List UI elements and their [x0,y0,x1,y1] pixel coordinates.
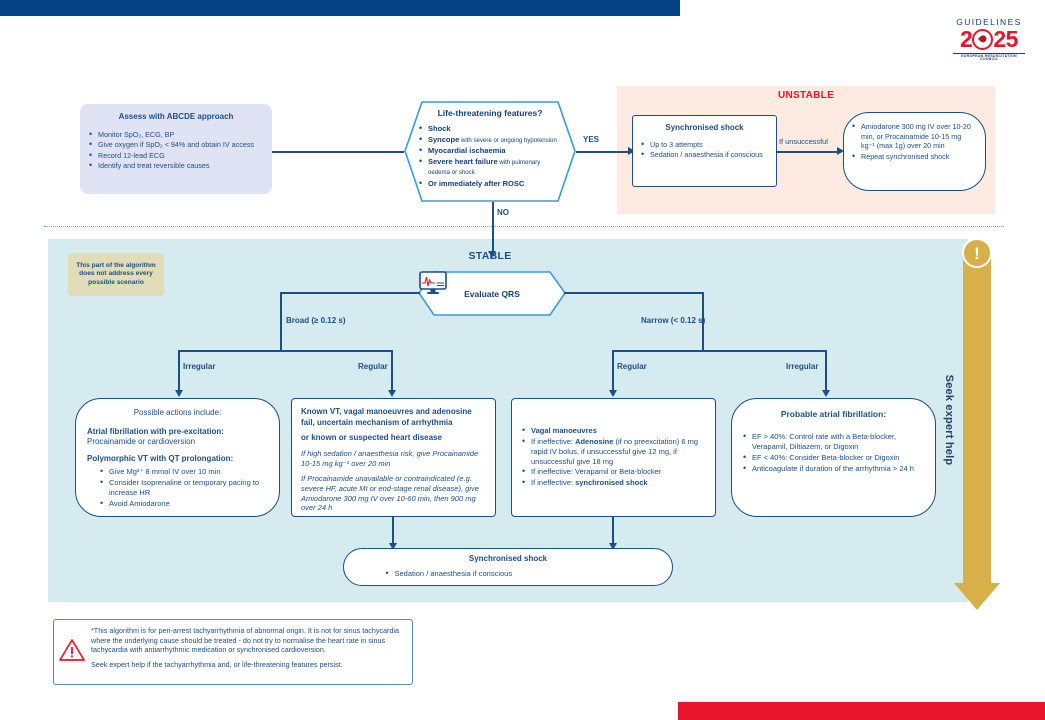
list-item: Up to 3 attempts [641,140,768,150]
list-item: EF < 40%: Consider Beta-blocker or Digox… [743,453,924,463]
connector-broad-regular [391,350,393,392]
erc-heart-icon [972,29,993,50]
amiodarone-line: If Procainamide unavailable or contraind… [301,474,486,514]
connector-narrow-irregular [825,350,827,392]
list-item: Sedation / anaesthesia if conscious [641,150,768,160]
edge-label-if-unsuccessful: If unsuccessful [779,137,828,146]
edge-label-narrow-regular: Regular [617,362,647,371]
list-item: Syncope with severe or ongoing hypotensi… [419,135,561,145]
item-normal: If ineffective: [531,437,575,446]
footnote-text: *This algorithm is for peri-arrest tachy… [91,626,405,678]
polymorphic-vt-list: Give Mg²⁺ 8 mmol IV over 10 min Consider… [87,467,268,509]
footnote-para-2: Seek expert help if the tachyarrhythmia … [91,660,405,670]
known-vt-line: Known VT, vagal manoeuvres and adenosine… [301,407,486,428]
life-threat-list: Shock Syncope with severe or ongoing hyp… [419,124,561,189]
unstable-banner: UNSTABLE [617,90,995,101]
arrow-narrow-regular [609,390,617,397]
item-bold: Severe heart failure [428,157,498,166]
connector-qrs-left [280,292,420,294]
connector-no [492,202,494,252]
stable-banner: STABLE [404,250,576,262]
footnote-para-1: *This algorithm is for peri-arrest tachy… [91,626,405,655]
footnote-box: *This algorithm is for peri-arrest tachy… [53,619,413,685]
evaluate-qrs-label: Evaluate QRS [464,289,520,299]
af-preexcitation-subhead: Atrial fibrillation with pre-excitation: [87,427,268,438]
item-bold: Or immediately after ROSC [428,179,524,188]
connector-qrs-right [564,292,704,294]
top-blue-bar [0,0,680,16]
zone-divider [44,226,1004,227]
broad-regular-box: Known VT, vagal manoeuvres and adenosine… [291,398,496,517]
seek-expert-help-bar [963,255,991,585]
list-item: Repeat synchronised shock [852,152,977,162]
connector-if-unsuccessful [777,151,837,153]
life-threatening-features-node: Life-threatening features? Shock Syncope… [404,101,576,202]
unstable-sync-shock-box: Synchronised shock Up to 3 attempts Seda… [632,115,777,187]
connector-assess-to-features [272,151,404,153]
connector-broad-to-sync [392,517,394,545]
list-item: Give Mg²⁺ 8 mmol IV over 10 min [100,467,268,477]
bottom-sync-shock-box: Synchronised shock Sedation / anaesthesi… [343,548,673,586]
algorithm-poster: GUIDELINES 2 25 EUROPEAN RESUSCITATION C… [0,0,1045,720]
list-item: Amiodarone 300 mg IV over 10-20 min, or … [852,122,977,151]
list-item: Identify and treat reversible causes [89,161,263,171]
broad-irregular-box: Possible actions include: Atrial fibrill… [75,398,280,517]
exclamation-icon: ! [962,238,992,268]
edge-label-yes: YES [583,135,599,144]
edge-label-broad-irregular: Irregular [183,362,215,371]
connector-narrow-regular [612,350,614,392]
narrow-regular-list: Vagal manoeuvres If ineffective: Adenosi… [522,426,705,490]
narrow-irregular-box: Probable atrial fibrillation: EF > 40%: … [731,398,936,517]
assess-title: Assess with ABCDE approach [89,112,263,123]
bottom-red-bar [678,702,1045,720]
item-bold: synchronised shock [575,478,648,487]
seek-expert-help-label: Seek expert help [935,255,963,585]
item-bold: Adenosine [575,437,613,446]
item-bold: Shock [428,124,451,133]
arrow-broad-regular [388,390,396,397]
list-item: Give oxygen if SpO₂ < 94% and obtain IV … [89,140,263,150]
list-item: Consider Isoprenaline or temporary pacin… [100,478,268,498]
probable-af-title: Probable atrial fibrillation: [743,409,924,420]
logo-year: 2 25 [953,28,1025,51]
af-preexcitation-text: Procainamide or cardioversion [87,437,268,448]
scenario-note-chip: This part of the algorithm does not addr… [68,253,164,296]
connector-yes [576,151,628,153]
assess-list: Monitor SpO₂, ECG, BP Give oxygen if SpO… [89,130,263,171]
life-threat-title: Life-threatening features? [419,108,561,119]
item-normal: with severe or ongoing hypotension [459,137,557,144]
narrow-regular-box: Vagal manoeuvres If ineffective: Adenosi… [511,398,716,517]
list-item: If ineffective: Verapamil or Beta-blocke… [522,467,705,477]
arrow-broad-irregular [175,390,183,397]
item-bold: Syncope [428,135,459,144]
possible-actions-heading: Possible actions include: [87,408,268,419]
heart-disease-line: or known or suspected heart disease [301,433,486,444]
list-item: Or immediately after ROSC [419,179,561,189]
logo-year-prefix: 2 [960,28,972,51]
logo-year-suffix: 25 [993,28,1018,51]
connector-narrow-to-sync [612,517,614,545]
item-bold: Vagal manoeuvres [531,426,597,435]
connector-broad-stem [280,292,282,350]
edge-label-broad: Broad (≥ 0.12 s) [286,316,346,325]
unstable-drug-box: Amiodarone 300 mg IV over 10-20 min, or … [843,112,986,191]
list-item: Vagal manoeuvres [522,426,705,436]
polymorphic-vt-subhead: Polymorphic VT with QT prolongation: [87,454,268,465]
list-item: Sedation / anaesthesia if conscious [386,569,631,579]
list-item: Shock [419,124,561,134]
procainamide-line: If high sedation / anaesthesia risk, giv… [301,449,486,469]
list-item: EF > 40%: Control rate with a Beta-block… [743,432,924,452]
arrow-narrow-irregular [822,390,830,397]
logo-council-text: EUROPEAN RESUSCITATION COUNCIL [953,53,1025,62]
bottom-sync-shock-list: Sedation / anaesthesia if conscious [386,569,631,579]
list-item: If ineffective: synchronised shock [522,478,705,488]
assess-abcde-box: Assess with ABCDE approach Monitor SpO₂,… [80,104,272,194]
connector-narrow-split [612,350,826,352]
list-item: Avoid Amiodarone [100,499,268,509]
item-normal: If ineffective: [531,478,575,487]
list-item: Record 12-lead ECG [89,151,263,161]
edge-label-narrow-irregular: Irregular [786,362,818,371]
probable-af-list: EF > 40%: Control rate with a Beta-block… [743,432,924,474]
item-bold: Myocardial ischaemia [428,146,506,155]
connector-broad-irregular [178,350,180,392]
list-item: Severe heart failure with pulmonary oede… [419,157,561,177]
list-item: Myocardial ischaemia [419,146,561,156]
evaluate-qrs-node: Evaluate QRS [418,271,566,316]
warning-triangle-icon [59,638,85,662]
seek-expert-help-arrowhead [954,583,1000,610]
sync-shock-list: Up to 3 attempts Sedation / anaesthesia … [641,140,768,160]
unstable-drug-list: Amiodarone 300 mg IV over 10-20 min, or … [852,122,977,161]
list-item: Anticoagulate if duration of the arrhyth… [743,464,924,474]
item-normal: If ineffective: Verapamil or Beta-blocke… [531,467,661,476]
list-item: Monitor SpO₂, ECG, BP [89,130,263,140]
edge-label-no: NO [497,208,509,217]
sync-shock-title: Synchronised shock [641,123,768,134]
edge-label-broad-regular: Regular [358,362,388,371]
list-item: If ineffective: Adenosine (if no preexci… [522,437,705,467]
edge-label-narrow: Narrow (< 0.12 s) [641,316,705,325]
connector-broad-split [178,350,393,352]
bottom-sync-shock-title: Synchronised shock [354,554,662,565]
erc-guidelines-logo: GUIDELINES 2 25 EUROPEAN RESUSCITATION C… [953,18,1025,62]
